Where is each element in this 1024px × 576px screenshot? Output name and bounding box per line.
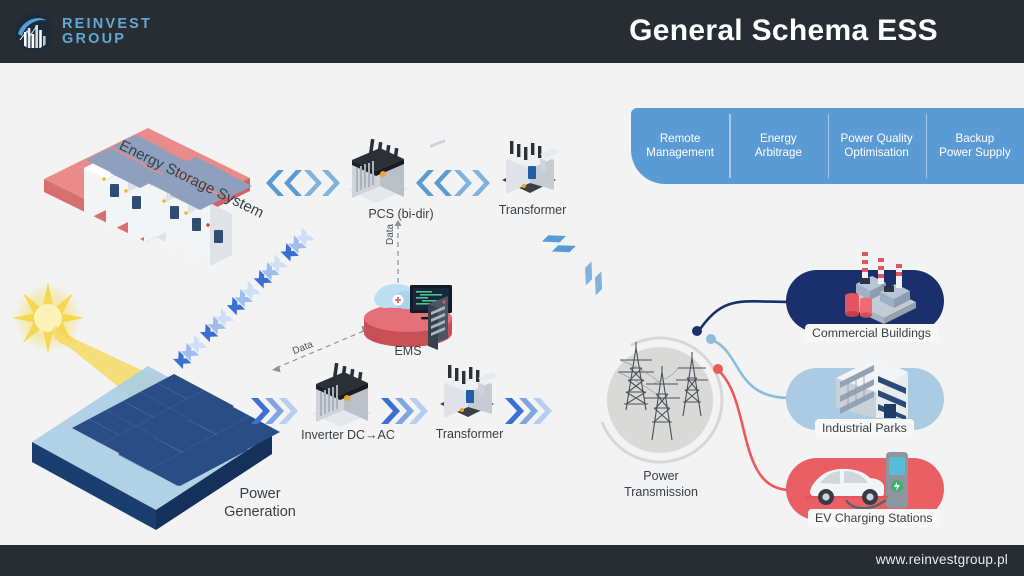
label-transformer-top: Transformer bbox=[470, 203, 595, 218]
feature-bar: Remote Management Energy Arbitrage Power… bbox=[631, 108, 1024, 184]
label-data-ems-solar: Data bbox=[291, 339, 315, 357]
connector-industrial bbox=[712, 340, 790, 398]
server-rack-icon bbox=[428, 139, 448, 350]
label-power-transmission: Power Transmission bbox=[604, 468, 718, 500]
monitor-icon bbox=[410, 285, 452, 319]
ev-car-charger-icon bbox=[806, 452, 908, 508]
label-power-transmission-line2: Transmission bbox=[624, 485, 698, 499]
brand-line-2: GROUP bbox=[62, 32, 152, 47]
flow-arrow-solar-to-inverter bbox=[251, 398, 298, 424]
data-link-ems-solar bbox=[272, 326, 370, 372]
schema-artwork bbox=[0, 0, 1024, 576]
diagram-canvas: REINVEST GROUP General Schema ESS Remote… bbox=[0, 0, 1024, 576]
flow-arrow-inverter-to-transformer bbox=[381, 398, 428, 424]
label-data-pcs-ems: Data bbox=[385, 224, 396, 245]
consumer-connectors bbox=[698, 301, 790, 490]
feature-label-line2: Optimisation bbox=[844, 146, 908, 159]
feature-label-line1: Energy bbox=[760, 132, 797, 145]
label-power-generation-line1: Power bbox=[239, 486, 280, 502]
transformer-top-icon bbox=[502, 141, 560, 194]
feature-backup-power-supply[interactable]: Backup Power Supply bbox=[926, 108, 1024, 184]
pcs-bi-dir-icon bbox=[348, 139, 408, 203]
brand-line-1: REINVEST bbox=[62, 16, 152, 32]
label-power-transmission-line1: Power bbox=[643, 469, 678, 483]
feature-label-line2: Management bbox=[646, 146, 714, 159]
flow-arrow-ess-to-pcs bbox=[266, 170, 340, 196]
connector-ev bbox=[718, 370, 790, 490]
flow-arrow-transformer-to-grid bbox=[505, 398, 552, 424]
consumer-commercial-buildings[interactable] bbox=[786, 252, 944, 332]
factory-icon bbox=[845, 252, 916, 324]
transformer-bottom-icon bbox=[440, 365, 498, 418]
brand-text: REINVEST GROUP bbox=[62, 17, 152, 47]
feature-label-line1: Backup bbox=[956, 132, 995, 145]
page-title: General Schema ESS bbox=[629, 14, 938, 48]
label-commercial-buildings: Commercial Buildings bbox=[805, 324, 938, 342]
ems-icon bbox=[364, 139, 452, 350]
feature-label-line2: Power Supply bbox=[939, 146, 1011, 159]
brand-logo[interactable]: REINVEST GROUP bbox=[14, 12, 152, 52]
reinvest-circle-bars-logo-icon bbox=[14, 12, 54, 52]
connector-dots bbox=[692, 326, 723, 374]
connector-commercial bbox=[698, 301, 790, 332]
page-footer: www.reinvestgroup.pl bbox=[0, 545, 1024, 576]
power-transmission-icon bbox=[576, 316, 744, 484]
label-industrial-parks: Industrial Parks bbox=[815, 419, 914, 437]
cloud-icon bbox=[374, 284, 419, 309]
feature-label-line1: Power Quality bbox=[841, 132, 913, 145]
footer-website-url[interactable]: www.reinvestgroup.pl bbox=[876, 552, 1008, 567]
label-energy-storage-system: Energy Storage System bbox=[117, 137, 267, 222]
office-building-icon bbox=[836, 358, 908, 420]
inverter-icon bbox=[312, 363, 372, 427]
feature-remote-management[interactable]: Remote Management bbox=[631, 108, 729, 184]
page-header: REINVEST GROUP General Schema ESS bbox=[0, 0, 1024, 63]
feature-energy-arbitrage[interactable]: Energy Arbitrage bbox=[729, 108, 827, 184]
sun-icon bbox=[12, 282, 206, 412]
feature-label-line2: Arbitrage bbox=[755, 146, 802, 159]
label-transformer-bottom: Transformer bbox=[407, 427, 532, 442]
feature-label-line1: Remote bbox=[660, 132, 701, 145]
flow-arrow-transformer-to-transmission bbox=[542, 227, 611, 296]
flow-arrow-pcs-to-transformer bbox=[416, 170, 490, 196]
label-ev-charging-stations: EV Charging Stations bbox=[808, 509, 940, 527]
feature-power-quality-optimisation[interactable]: Power Quality Optimisation bbox=[828, 108, 926, 184]
label-power-generation-line2: Generation bbox=[224, 504, 296, 520]
label-pcs: PCS (bi-dir) bbox=[336, 207, 466, 222]
label-ems: EMS bbox=[373, 344, 443, 359]
label-inverter: Inverter DC→AC bbox=[283, 428, 413, 443]
label-power-generation: Power Generation bbox=[207, 485, 313, 521]
